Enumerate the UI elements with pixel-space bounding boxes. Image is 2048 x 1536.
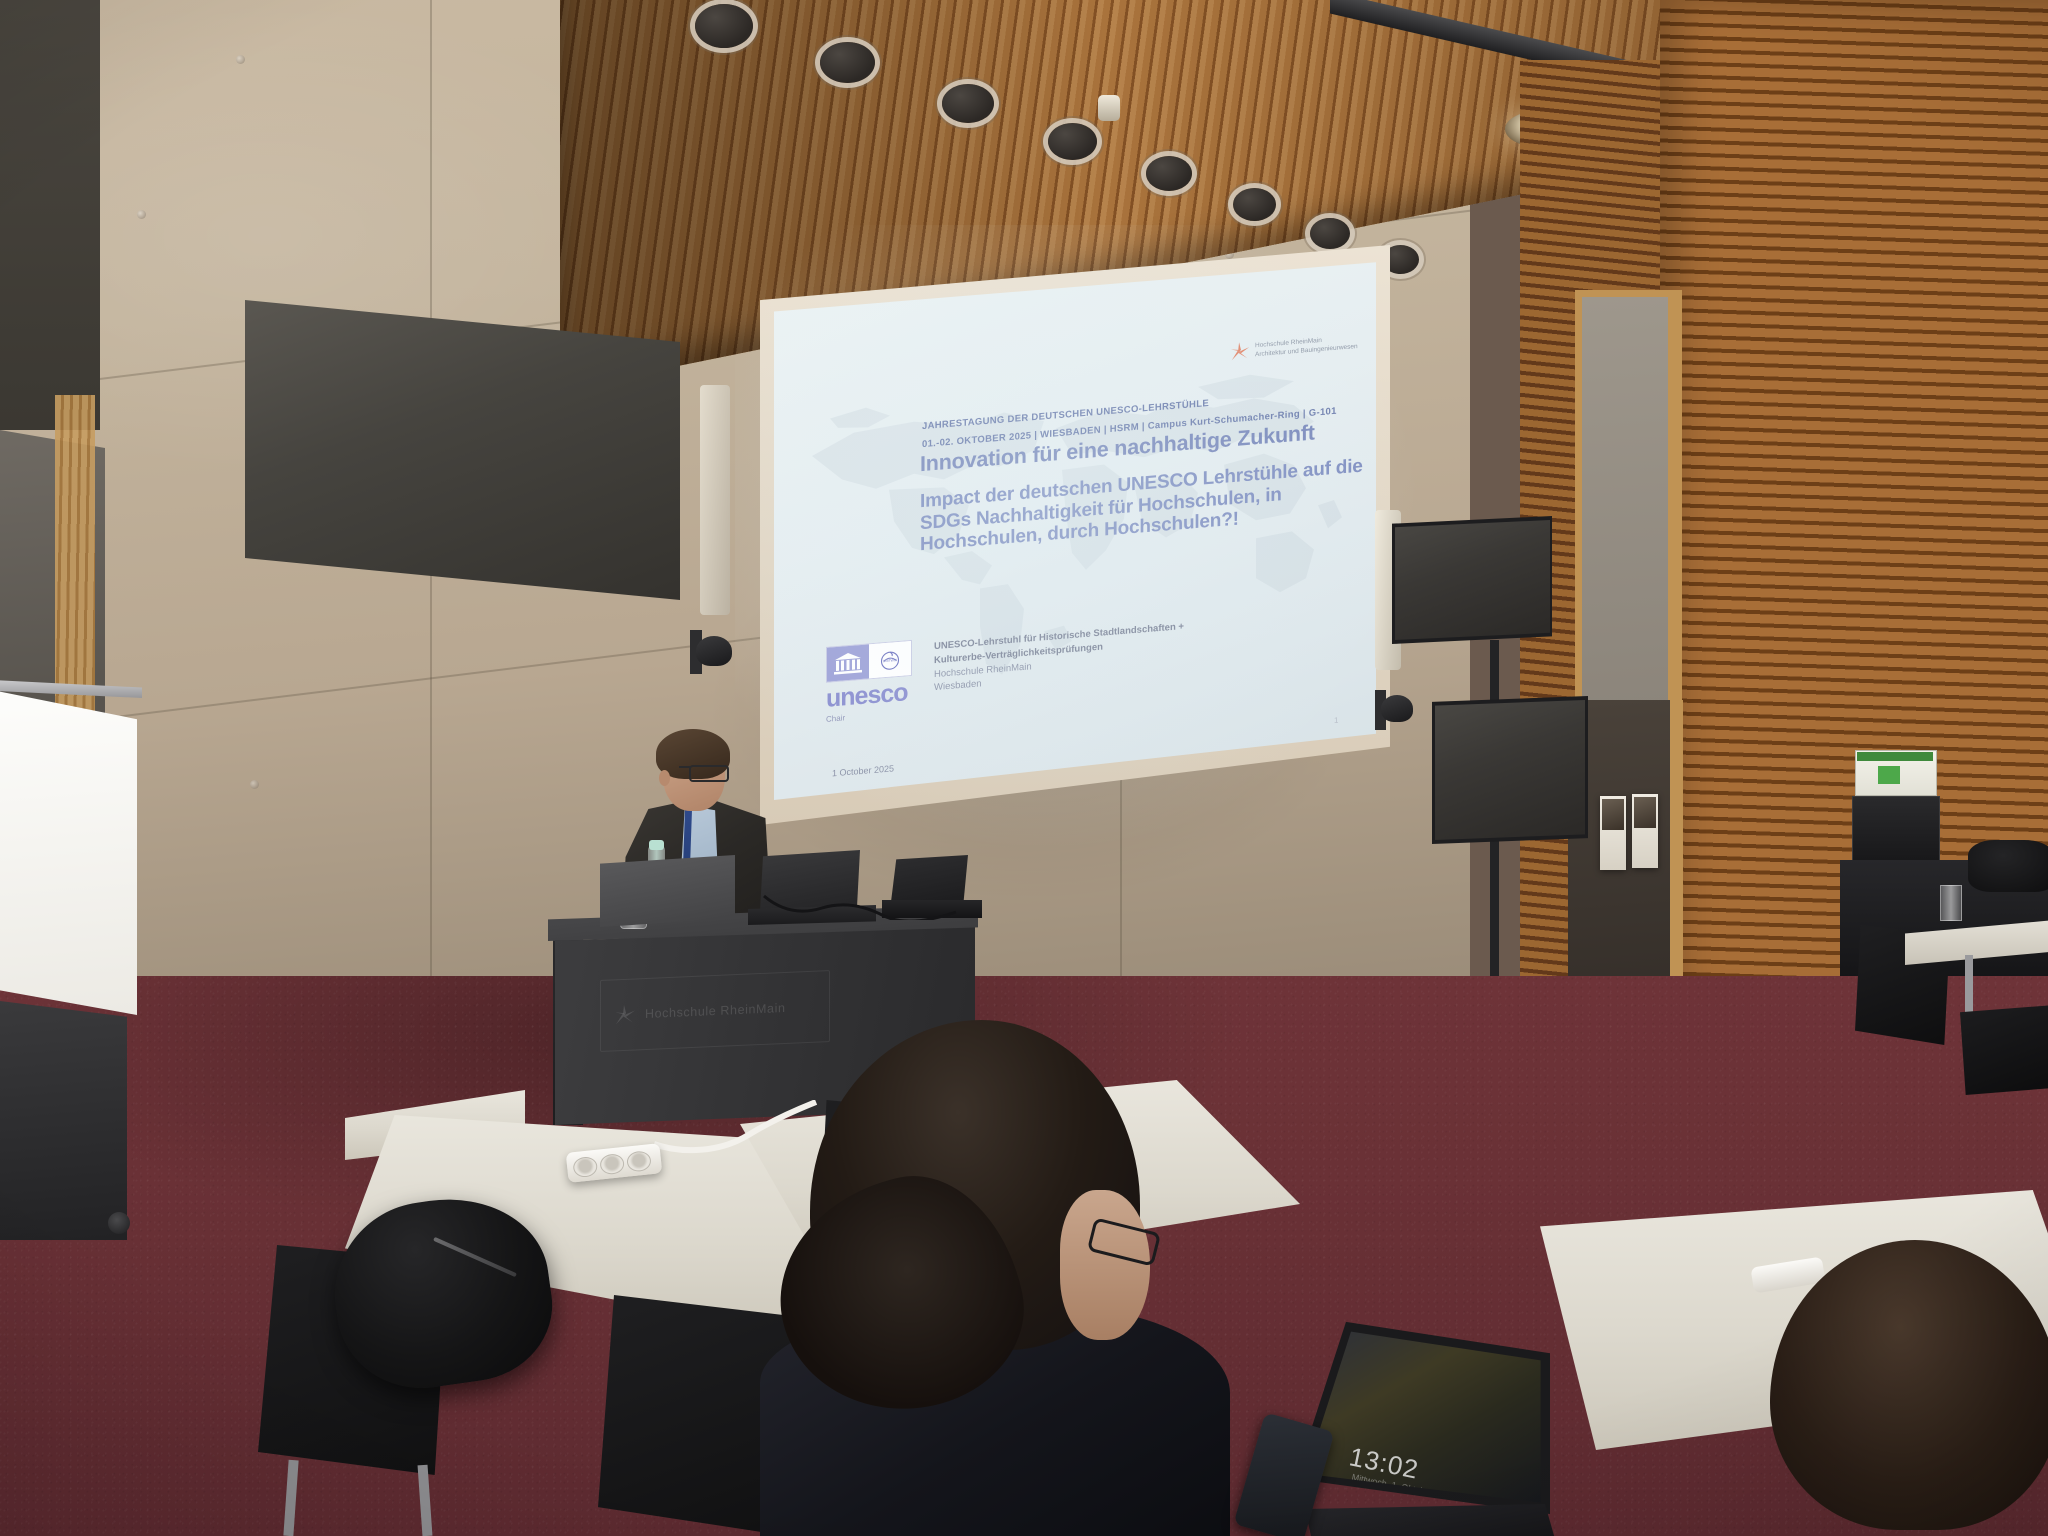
lecture-hall-photograph: Hochschule RheinMain Architektur und Bau… (0, 0, 2048, 1536)
unesco-temple-icon (827, 644, 869, 681)
unesco-wordmark: unesco (826, 680, 912, 712)
wall-vent (1146, 156, 1192, 191)
flipchart-whiteboard (0, 690, 137, 1015)
projection-screen: Hochschule RheinMain Architektur und Bau… (760, 245, 1390, 825)
wall-vent (1048, 123, 1097, 160)
door-poster (1632, 794, 1658, 868)
wall-mounted-display-left (245, 300, 680, 600)
wall-vent (695, 4, 753, 48)
audience-member (760, 1020, 1200, 1536)
bottle-cap (649, 840, 664, 850)
audience-member (1770, 1240, 2048, 1536)
wall-mounted-display-right-upper (1395, 520, 1550, 640)
column-loudspeaker (700, 385, 730, 615)
lectern-emboss-label: Hochschule RheinMain (645, 1001, 786, 1021)
eyeglasses-temple (679, 766, 691, 768)
ceiling-camera (690, 630, 736, 676)
sign-graphic (1878, 766, 1900, 784)
cables (760, 890, 960, 920)
left-wall-dark-panel (0, 0, 100, 430)
presenter-monitor (600, 855, 735, 927)
audience-laptop[interactable]: 13:02 Mittwoch, 1. Oktober (1295, 1318, 1550, 1536)
wall-vent (1233, 188, 1276, 221)
ceiling-sensor (1098, 95, 1120, 121)
eyeglasses-icon (689, 765, 729, 782)
unesco-emblem: UNITWIN (826, 640, 912, 683)
audience-member-face (1060, 1190, 1150, 1340)
audience-member-hair (1770, 1240, 2048, 1530)
wall-camera (1375, 690, 1417, 732)
power-socket[interactable] (626, 1150, 652, 1172)
slide-page-number: 1 (1334, 716, 1338, 725)
power-socket[interactable] (572, 1156, 598, 1178)
hsrm-star-icon (613, 1002, 637, 1027)
wall-vent (942, 84, 994, 123)
chair[interactable] (1960, 1005, 2048, 1095)
drinking-glass (1940, 885, 1962, 921)
presenter-ear (659, 770, 670, 786)
unesco-logo-block: UNITWIN unesco Chair (826, 640, 912, 724)
projected-slide: Hochschule RheinMain Architektur und Bau… (774, 259, 1376, 811)
svg-text:UNITWIN: UNITWIN (883, 658, 898, 663)
hsrm-star-icon (1229, 340, 1251, 364)
slide-date: 1 October 2025 (832, 763, 894, 778)
mobile-display-on-stand (1435, 700, 1585, 840)
room-control-panel[interactable] (1852, 796, 1940, 868)
door-poster (1600, 796, 1626, 870)
bag-on-bench (1968, 840, 2048, 892)
laptop-keyboard[interactable] (1305, 1504, 1555, 1536)
flipchart-wheel (108, 1212, 130, 1234)
unesco-chair-seal-icon: UNITWIN (869, 641, 911, 678)
wall-vent (820, 42, 875, 83)
flipchart-stand (0, 1000, 127, 1240)
sign-header-bar (1857, 752, 1933, 761)
power-socket[interactable] (599, 1153, 625, 1175)
door-frame (1670, 290, 1682, 1020)
